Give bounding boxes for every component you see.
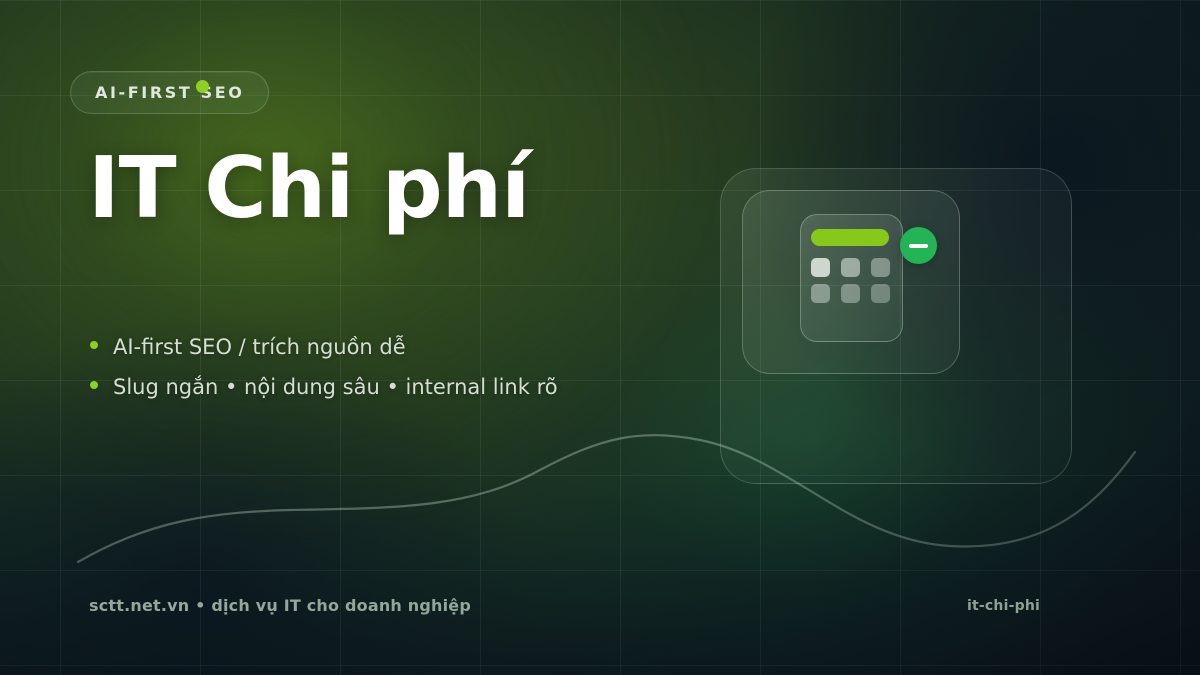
- calculator-display: [811, 229, 889, 246]
- feature-bullet-list: AI-first SEO / trích nguồn dễ Slug ngắn …: [90, 332, 558, 412]
- green-dot-icon: [196, 80, 209, 93]
- list-item-label: AI-first SEO / trích nguồn dễ: [113, 332, 406, 363]
- bullet-dot-icon: [90, 381, 98, 389]
- eyebrow-badge: AI-FIRST SEO: [70, 71, 269, 114]
- list-item-label: Slug ngắn • nội dung sâu • internal link…: [113, 372, 558, 403]
- calculator-key-6: [871, 284, 890, 303]
- list-item: AI-first SEO / trích nguồn dễ: [90, 332, 558, 363]
- page-title: IT Chi phí: [88, 145, 529, 233]
- calculator-key-1: [811, 258, 830, 277]
- calculator-key-5: [841, 284, 860, 303]
- footer-slug-text: it-chi-phi: [967, 598, 1040, 614]
- bullet-dot-icon: [90, 341, 98, 349]
- minus-badge-icon: [900, 227, 937, 264]
- calculator-key-2: [841, 258, 860, 277]
- footer-brand-text: sctt.net.vn • dịch vụ IT cho doanh nghiệ…: [89, 596, 471, 615]
- list-item: Slug ngắn • nội dung sâu • internal link…: [90, 372, 558, 403]
- slide-canvas: AI-FIRST SEO IT Chi phí AI-first SEO / t…: [0, 0, 1200, 675]
- calculator-key-4: [811, 284, 830, 303]
- eyebrow-badge-label: AI-FIRST SEO: [95, 83, 244, 102]
- calculator-key-3: [871, 258, 890, 277]
